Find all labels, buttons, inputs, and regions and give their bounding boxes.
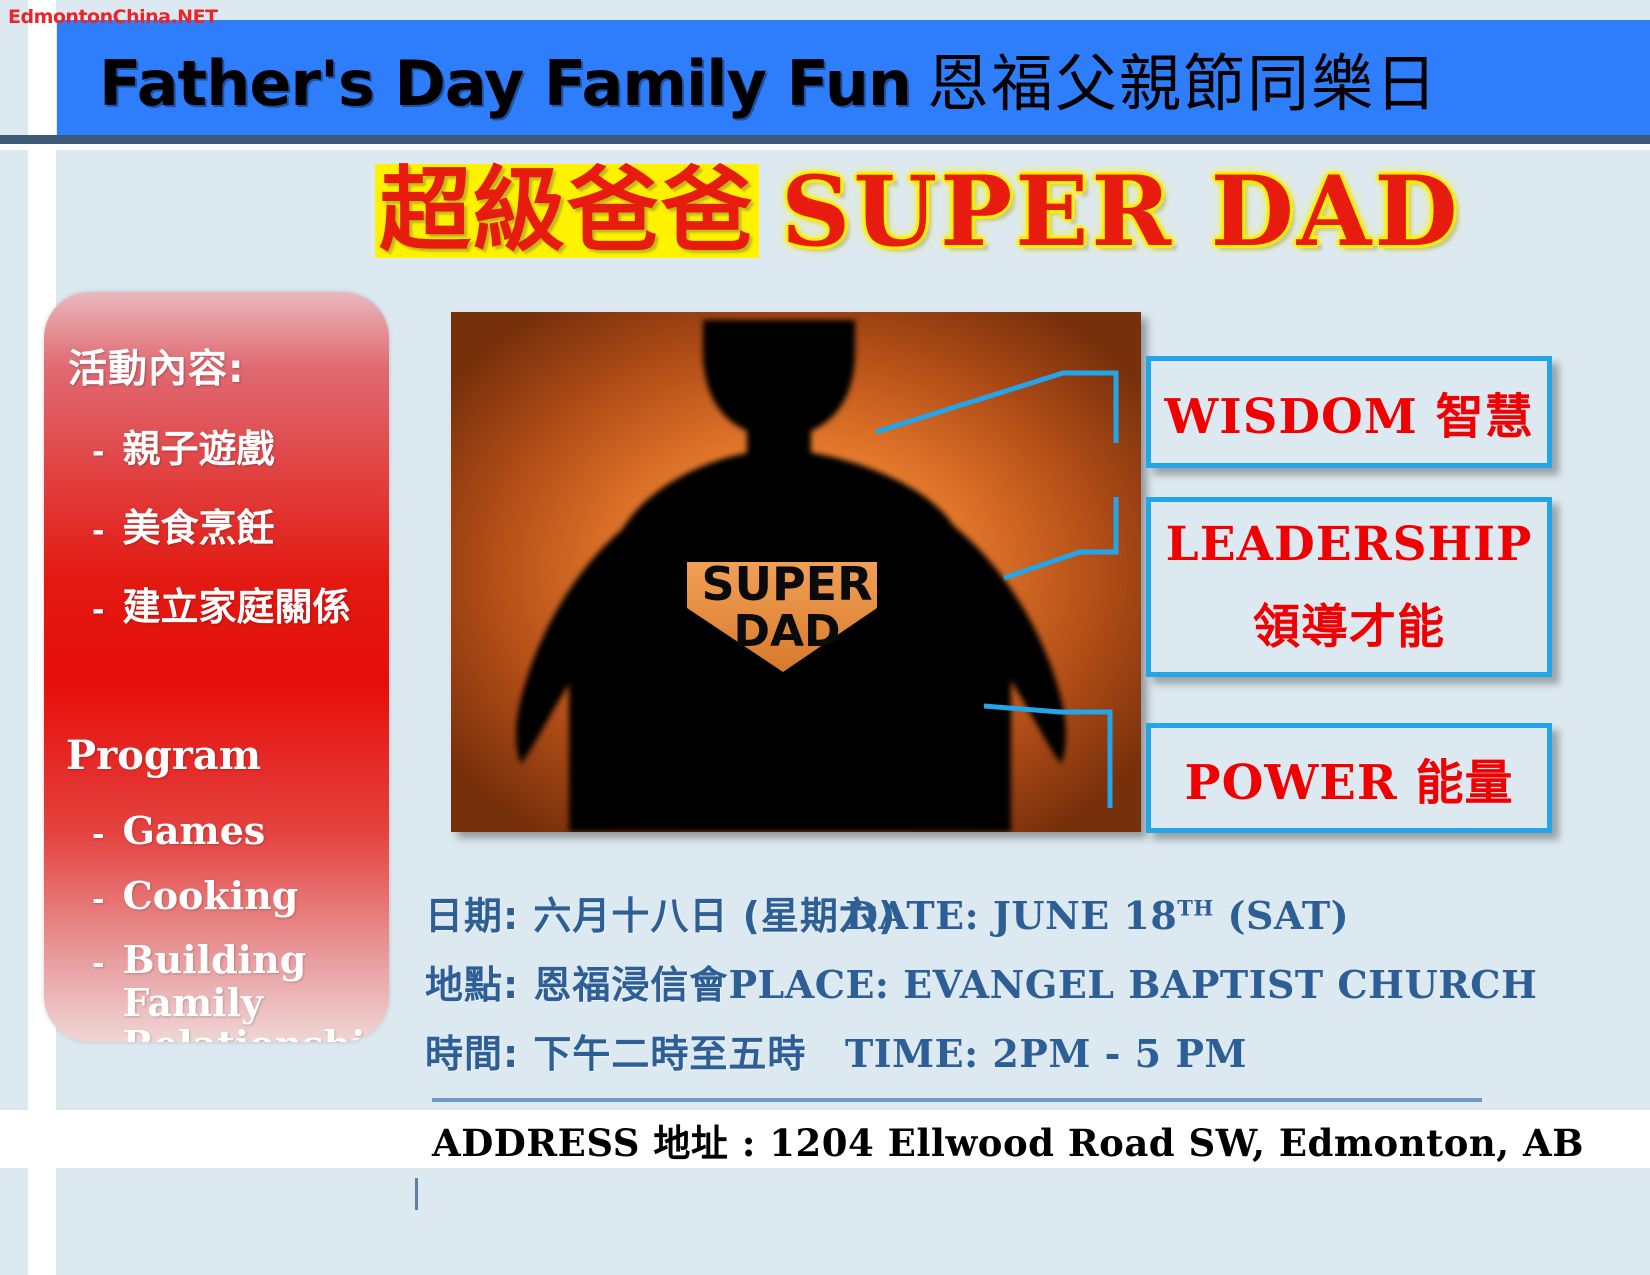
bullet-dash: - bbox=[92, 947, 104, 981]
detail-row-date: 日期: 六月十八日 (星期六) DATE: JUNE 18TH (SAT) bbox=[425, 885, 1525, 940]
superdad-heading-english: SUPER DAD bbox=[781, 155, 1461, 268]
page-title-chinese: 恩福父親節同樂日 bbox=[927, 33, 1439, 123]
emblem-text-dad: DAD bbox=[733, 606, 840, 657]
detail-place-chinese: 地點: 恩福浸信會 bbox=[425, 954, 728, 1009]
page-title-english: Father's Day Family Fun bbox=[99, 47, 911, 120]
text-cursor bbox=[415, 1178, 418, 1210]
bullet-dash: - bbox=[92, 593, 104, 628]
callout-leadership-text-en: LEADERSHIP bbox=[1166, 517, 1533, 572]
detail-place-english: PLACE: EVANGEL BAPTIST CHURCH bbox=[728, 962, 1537, 1007]
detail-row-time: 時間: 下午二時至五時 TIME: 2PM - 5 PM bbox=[425, 1023, 1525, 1078]
header-underline bbox=[0, 135, 1650, 144]
superdad-heading-chinese: 超級爸爸 bbox=[375, 164, 759, 258]
list-item-label: 親子遊戲 bbox=[122, 418, 274, 473]
detail-date-ordinal: TH bbox=[1177, 895, 1213, 920]
poster-root: EdmontonChina.NET Father's Day Family Fu… bbox=[0, 0, 1650, 1275]
activities-heading: 活動內容: bbox=[68, 338, 245, 394]
bullet-dash: - bbox=[92, 514, 104, 549]
callout-wisdom-text: WISDOM 智慧 bbox=[1164, 377, 1533, 447]
activities-panel: 活動內容: - 親子遊戲 - 美食烹飪 - 建立家庭關係 Program - G… bbox=[44, 292, 389, 1042]
superhero-silhouette-icon: SUPER DAD bbox=[451, 312, 1141, 832]
bullet-dash: - bbox=[92, 883, 104, 917]
callout-power: POWER 能量 bbox=[1146, 723, 1552, 833]
callout-power-text: POWER 能量 bbox=[1184, 743, 1513, 813]
header-banner: Father's Day Family Fun 恩福父親節同樂日 bbox=[57, 20, 1650, 135]
program-heading: Program bbox=[66, 732, 261, 779]
list-item: - 親子遊戲 bbox=[92, 418, 389, 473]
list-item-label: 建立家庭關係 bbox=[122, 576, 350, 631]
detail-date-english-post: (SAT) bbox=[1214, 893, 1349, 938]
superdad-heading: 超級爸爸 SUPER DAD bbox=[375, 152, 1375, 270]
header-title-group: Father's Day Family Fun 恩福父親節同樂日 bbox=[99, 33, 1439, 123]
list-item-label: 美食烹飪 bbox=[122, 497, 274, 552]
activities-list-chinese: - 親子遊戲 - 美食烹飪 - 建立家庭關係 bbox=[92, 418, 389, 655]
superhero-photo: SUPER DAD bbox=[451, 312, 1141, 832]
detail-row-place: 地點: 恩福浸信會 PLACE: EVANGEL BAPTIST CHURCH bbox=[425, 954, 1525, 1009]
detail-time-english: TIME: 2PM - 5 PM bbox=[845, 1031, 1247, 1076]
bullet-dash: - bbox=[92, 435, 104, 470]
site-watermark: EdmontonChina.NET bbox=[8, 6, 218, 28]
callout-leadership: LEADERSHIP 領導才能 bbox=[1146, 497, 1552, 677]
details-divider bbox=[432, 1098, 1482, 1102]
list-item-label: Games bbox=[122, 810, 265, 853]
detail-date-english-pre: DATE: JUNE 18 bbox=[845, 893, 1177, 938]
list-item: - Cooking bbox=[92, 875, 389, 918]
bullet-dash: - bbox=[92, 818, 104, 852]
list-item: - 美食烹飪 bbox=[92, 497, 389, 552]
detail-date-chinese: 日期: 六月十八日 (星期六) bbox=[425, 885, 845, 940]
list-item-label: Cooking bbox=[122, 875, 298, 918]
list-item: - Building Family Relationship bbox=[92, 939, 389, 1042]
list-item: - 建立家庭關係 bbox=[92, 576, 389, 631]
list-item: - Games bbox=[92, 810, 389, 853]
detail-date-english: DATE: JUNE 18TH (SAT) bbox=[845, 893, 1349, 938]
event-details: 日期: 六月十八日 (星期六) DATE: JUNE 18TH (SAT) 地點… bbox=[425, 885, 1525, 1092]
address-label-english: ADDRESS bbox=[432, 1121, 653, 1165]
address-line: ADDRESS 地址 : 1204 Ellwood Road SW, Edmon… bbox=[432, 1113, 1584, 1167]
address-value: : 1204 Ellwood Road SW, Edmonton, AB bbox=[728, 1121, 1584, 1165]
callout-leadership-text-zh: 領導才能 bbox=[1253, 588, 1445, 657]
list-item-label: Building Family Relationship bbox=[122, 939, 389, 1042]
address-label-chinese: 地址 bbox=[653, 1122, 728, 1165]
emblem-text-super: SUPER bbox=[701, 557, 872, 611]
detail-time-chinese: 時間: 下午二時至五時 bbox=[425, 1023, 845, 1078]
callout-wisdom: WISDOM 智慧 bbox=[1146, 356, 1552, 468]
program-list-english: - Games - Cooking - Building Family Rela… bbox=[92, 810, 389, 1042]
